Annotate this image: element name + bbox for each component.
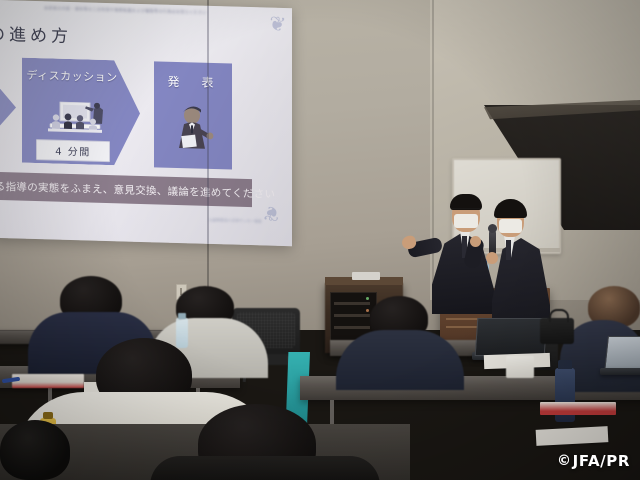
attendee-shoulders-foreground-center bbox=[150, 456, 380, 480]
slide-instruction-banner: ける指導の実態をふまえ、意見交換、議論を進めてください bbox=[0, 172, 252, 208]
copyright-symbol-icon: © bbox=[557, 453, 572, 469]
av-slot bbox=[334, 302, 370, 305]
laptop-center-screen bbox=[475, 318, 548, 356]
previous-step-chevron bbox=[0, 82, 16, 131]
slide-instruction-text: ける指導の実態をふまえ、意見交換、議論を進めてください bbox=[0, 178, 275, 201]
discussion-step-label: ディスカッション bbox=[24, 67, 120, 86]
presenter-speaking-raised-hand bbox=[470, 236, 481, 247]
flourish-bottom-right-icon: ❦ bbox=[262, 202, 282, 225]
wall-seam-right bbox=[432, 0, 434, 300]
discussion-duration-badge: 4 分間 bbox=[36, 139, 110, 162]
presentation-step-label: 発 表 bbox=[154, 72, 232, 91]
presenter-with-microphone-hand bbox=[486, 252, 498, 264]
group-meeting-illustration-icon bbox=[44, 101, 106, 137]
red-book-right bbox=[540, 402, 616, 415]
copyright-watermark: © JFA/PR bbox=[557, 452, 630, 470]
laptop-right-screen bbox=[604, 336, 640, 372]
red-book-left bbox=[12, 374, 84, 388]
flourish-top-right-icon: ❦ bbox=[268, 13, 287, 36]
av-slot bbox=[334, 314, 370, 317]
copyright-text: JFA/PR bbox=[573, 452, 630, 470]
slide-footer-text: 公益財団法人日本サッカー協会 bbox=[142, 214, 262, 225]
presenter-with-microphone-tie bbox=[506, 240, 511, 260]
av-status-led bbox=[366, 309, 369, 312]
attendee-head-foreground-left bbox=[0, 420, 70, 480]
screen-panel-seam bbox=[207, 6, 209, 244]
presenter-person-illustration-icon bbox=[173, 105, 215, 158]
projection-screen: 本研修の内容・資料等の二次利用や無断転載および複製等の行為はお控えください の進… bbox=[0, 0, 292, 246]
laptop-right-base bbox=[600, 368, 640, 375]
tissue-box bbox=[506, 356, 534, 378]
slide-title: の進め方 bbox=[0, 20, 72, 47]
black-bag bbox=[540, 318, 574, 344]
handouts-foreground bbox=[536, 426, 609, 446]
av-slot bbox=[334, 326, 370, 329]
av-status-led bbox=[366, 297, 369, 300]
presenter-speaking-face-mask bbox=[454, 214, 478, 228]
clear-water-bottle bbox=[176, 318, 188, 348]
attendee-dark-jacket-center bbox=[336, 330, 464, 390]
presenter-with-microphone-face-mask bbox=[499, 219, 522, 233]
photo-scene: 本研修の内容・資料等の二次利用や無断転載および複製等の行為はお控えください の進… bbox=[0, 0, 640, 480]
av-mixer-device bbox=[352, 272, 380, 280]
